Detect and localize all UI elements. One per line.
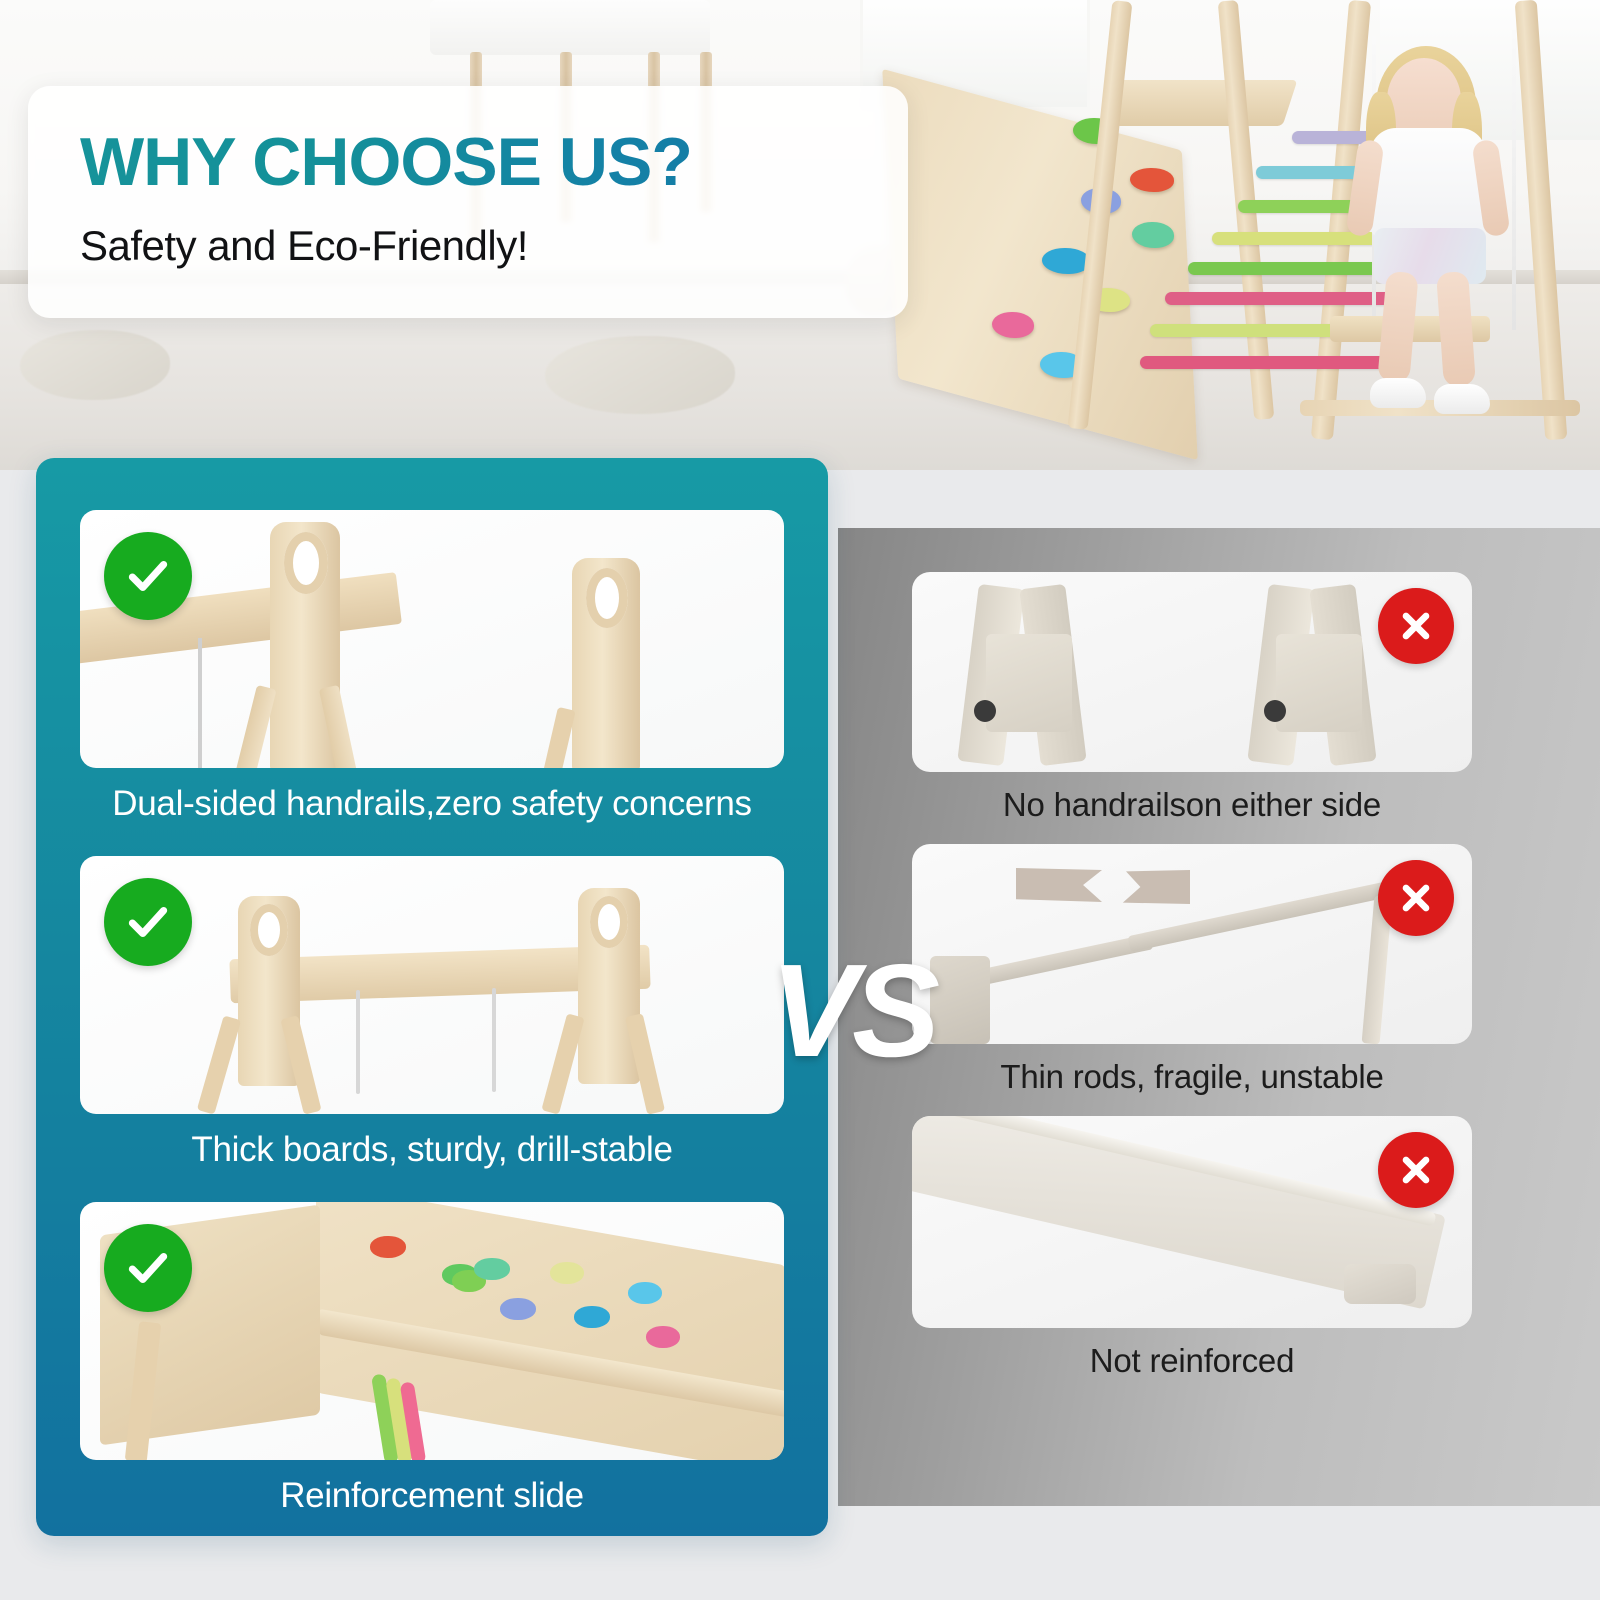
negative-caption-2: Thin rods, fragile, unstable bbox=[912, 1044, 1472, 1114]
frame-loop-left bbox=[250, 904, 288, 956]
swing-rope bbox=[1512, 30, 1516, 330]
check-badge-1 bbox=[104, 532, 192, 620]
negative-item-1: No handrailson either side bbox=[912, 572, 1562, 842]
page-subtitle: Safety and Eco-Friendly! bbox=[80, 222, 908, 270]
header-card: WHY CHOOSE US? Safety and Eco-Friendly! bbox=[28, 86, 908, 318]
hanging-cable-left bbox=[356, 990, 360, 1094]
frame-loop-right bbox=[590, 896, 628, 948]
negative-item-2: Thin rods, fragile, unstable bbox=[912, 844, 1562, 1114]
positive-caption-3: Reinforcement slide bbox=[80, 1460, 784, 1542]
cross-badge-3 bbox=[1378, 1132, 1454, 1208]
positive-item-3: Reinforcement slide bbox=[80, 1202, 784, 1542]
break-symbol-right bbox=[1110, 870, 1190, 904]
handrail-leg-c bbox=[542, 707, 575, 768]
climbing-hold bbox=[1130, 168, 1174, 192]
floor-pillow bbox=[545, 336, 735, 414]
break-symbol-left bbox=[1016, 868, 1102, 902]
child-shirt bbox=[1370, 128, 1486, 238]
cross-icon bbox=[1396, 1150, 1436, 1190]
positive-item-2: Thick boards, sturdy, drill-stable bbox=[80, 856, 784, 1196]
cross-badge-2 bbox=[1378, 860, 1454, 936]
page-title: WHY CHOOSE US? bbox=[80, 128, 908, 196]
hanging-cable-right bbox=[492, 988, 496, 1092]
play-table bbox=[430, 0, 710, 55]
frame-plate-left bbox=[986, 634, 1072, 732]
negative-photo-3 bbox=[912, 1116, 1472, 1328]
check-icon bbox=[123, 897, 173, 947]
positive-caption-2: Thick boards, sturdy, drill-stable bbox=[80, 1114, 784, 1196]
negative-photo-1 bbox=[912, 572, 1472, 772]
knob-left bbox=[974, 700, 996, 722]
handrail-loop-left bbox=[284, 532, 328, 594]
check-icon bbox=[123, 551, 173, 601]
positive-caption-1: Dual-sided handrails,zero safety concern… bbox=[80, 768, 784, 850]
frame-leg-left-a bbox=[197, 1015, 241, 1114]
child-shoe bbox=[1434, 384, 1490, 414]
climbing-hold bbox=[474, 1258, 510, 1280]
climbing-hold bbox=[646, 1326, 680, 1348]
positive-comparison-panel: Dual-sided handrails,zero safety concern… bbox=[36, 458, 828, 1536]
positive-photo-3 bbox=[80, 1202, 784, 1460]
positive-item-1: Dual-sided handrails,zero safety concern… bbox=[80, 510, 784, 850]
negative-caption-3: Not reinforced bbox=[912, 1328, 1472, 1398]
cross-badge-1 bbox=[1378, 588, 1454, 664]
cross-icon bbox=[1396, 606, 1436, 646]
negative-photo-2 bbox=[912, 844, 1472, 1044]
check-icon bbox=[123, 1243, 173, 1293]
ladder-rung bbox=[1140, 356, 1392, 369]
climbing-hold bbox=[1132, 222, 1174, 248]
knob-right bbox=[1264, 700, 1286, 722]
negative-comparison-panel: No handrailson either side Thin rods, fr… bbox=[838, 528, 1600, 1506]
climbing-hold bbox=[500, 1298, 536, 1320]
climbing-hold bbox=[1042, 248, 1090, 274]
frame-plate-right bbox=[1276, 634, 1362, 732]
check-badge-2 bbox=[104, 878, 192, 966]
negative-item-3: Not reinforced bbox=[912, 1116, 1562, 1398]
climbing-hold bbox=[992, 312, 1034, 338]
child-shoe bbox=[1370, 378, 1426, 408]
climbing-hold bbox=[574, 1306, 610, 1328]
cross-icon bbox=[1396, 878, 1436, 918]
climbing-platform bbox=[1103, 80, 1298, 126]
swing-cable bbox=[198, 638, 202, 768]
climbing-hold bbox=[370, 1236, 406, 1258]
negative-caption-1: No handrailson either side bbox=[912, 772, 1472, 842]
check-badge-3 bbox=[104, 1224, 192, 1312]
climbing-hold bbox=[550, 1262, 584, 1284]
ladder-rung bbox=[1165, 292, 1407, 305]
handrail-loop-right bbox=[586, 568, 628, 628]
positive-photo-2 bbox=[80, 856, 784, 1114]
slide-foot bbox=[1344, 1264, 1416, 1304]
positive-photo-1 bbox=[80, 510, 784, 768]
climbing-hold bbox=[628, 1282, 662, 1304]
frame-joint bbox=[930, 956, 990, 1044]
floor-pillow bbox=[20, 330, 170, 400]
